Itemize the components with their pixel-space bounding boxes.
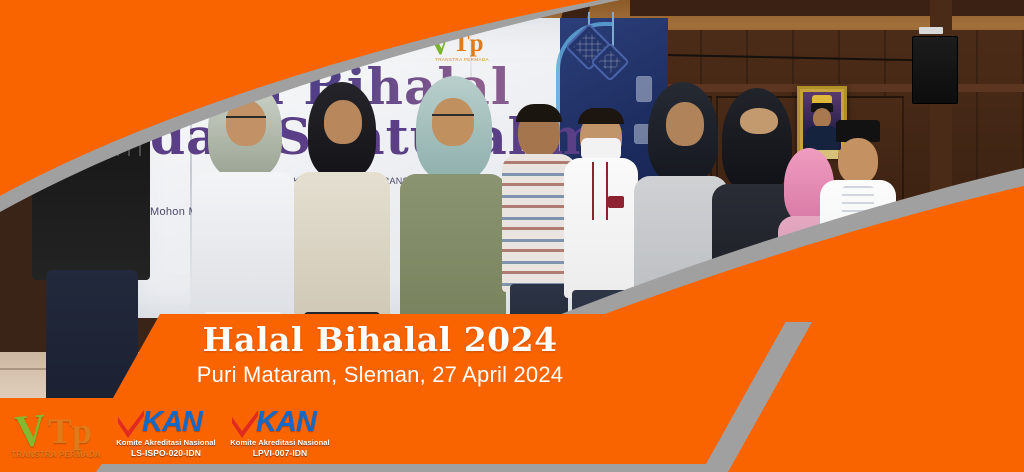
kan-accreditation-code: LS-ISPO-020-IDN	[114, 448, 218, 458]
event-subtitle: Puri Mataram, Sleman, 27 April 2024	[0, 360, 760, 390]
pocket-trim	[608, 196, 624, 208]
face	[666, 102, 704, 146]
company-logo-vtp: V Tp TRANSTRA PERMADA	[8, 404, 104, 466]
face	[324, 100, 362, 144]
koko-placket	[592, 162, 608, 220]
photo-banner-composite: V Tp TRANSTRA PERMADA Halal Bihalal dan …	[0, 0, 1024, 472]
face	[432, 98, 474, 146]
eyeglasses	[432, 114, 474, 122]
hair	[578, 108, 624, 124]
kan-logo-lpvi: KAN Komite Akreditasi Nasional LPVI-007-…	[228, 407, 332, 463]
koko-embroidery	[842, 186, 874, 258]
backdrop-logo-tp-text: Tp	[453, 30, 484, 58]
kan-wordmark: KAN	[142, 407, 202, 437]
face	[70, 62, 114, 114]
eyes-area	[740, 108, 778, 134]
kan-accreditation-code: LPVI-007-IDN	[228, 448, 332, 458]
portrait-crest	[812, 95, 832, 103]
logo-strip: V Tp TRANSTRA PERMADA KAN Komite Akredit…	[8, 400, 338, 470]
torso	[192, 172, 296, 322]
face	[838, 138, 878, 184]
ceiling-beam-horizontal	[630, 0, 1024, 16]
overlay-title-block: Halal Bihalal 2024 Puri Mataram, Sleman,…	[0, 322, 760, 390]
shirt-yoke-pattern	[40, 114, 142, 156]
checkmark-v-icon: V	[13, 407, 47, 455]
eyeglasses	[226, 116, 266, 124]
kan-logo-ls-ispo: KAN Komite Akreditasi Nasional LS-ISPO-0…	[114, 407, 218, 463]
kan-wordmark: KAN	[256, 407, 316, 437]
box-graphic	[898, 242, 942, 270]
box-label	[960, 266, 1000, 292]
torso	[294, 172, 390, 322]
loudspeaker	[912, 36, 958, 104]
company-name: TRANSTRA PERMADA	[8, 450, 104, 459]
trousers	[830, 316, 886, 378]
person-boy-white-koko-peci	[820, 120, 896, 360]
kan-agency-name: Komite Akreditasi Nasional	[228, 438, 332, 447]
dress-top	[400, 174, 506, 336]
kan-agency-name: Komite Akreditasi Nasional	[114, 438, 218, 447]
event-title: Halal Bihalal 2024	[0, 322, 760, 358]
face-mask	[581, 138, 621, 160]
box-label-red	[960, 252, 984, 261]
company-logo-tp-text: Tp	[48, 413, 92, 449]
